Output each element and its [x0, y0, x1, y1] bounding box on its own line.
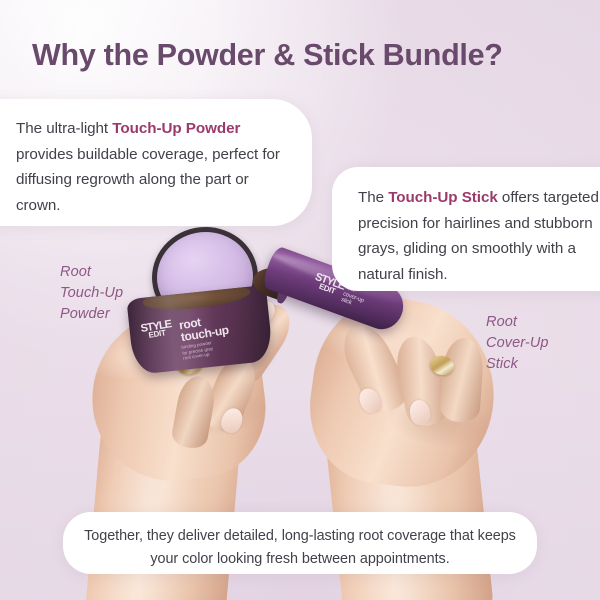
marketing-graphic-canvas: STYLE EDIT root touch-up binding powder … — [0, 0, 600, 600]
powder-compact-jar: STYLE EDIT root touch-up binding powder … — [126, 285, 273, 375]
powder-callout-rest: provides buildable coverage, perfect for… — [16, 146, 280, 214]
powder-callout-text: The ultra-light Touch-Up Powder provides… — [16, 116, 296, 218]
stick-callout-text: The Touch-Up Stick offers targeted preci… — [358, 185, 600, 287]
powder-annotation-label: Root Touch-Up Powder — [60, 262, 123, 325]
stick-annotation-label: Root Cover-Up Stick — [486, 312, 549, 375]
summary-callout-text: Together, they deliver detailed, long-la… — [83, 525, 517, 571]
powder-callout-highlight: Touch-Up Powder — [112, 120, 240, 137]
powder-brand-logo: STYLE EDIT — [138, 320, 176, 353]
powder-callout-lead: The ultra-light — [16, 120, 112, 137]
page-title: Why the Powder & Stick Bundle? — [32, 35, 503, 75]
stick-callout-lead: The — [358, 189, 388, 206]
stick-callout-card: The Touch-Up Stick offers targeted preci… — [332, 167, 600, 291]
summary-callout-card: Together, they deliver detailed, long-la… — [63, 512, 537, 574]
powder-callout-card: The ultra-light Touch-Up Powder provides… — [0, 99, 312, 226]
stick-callout-highlight: Touch-Up Stick — [388, 189, 498, 206]
